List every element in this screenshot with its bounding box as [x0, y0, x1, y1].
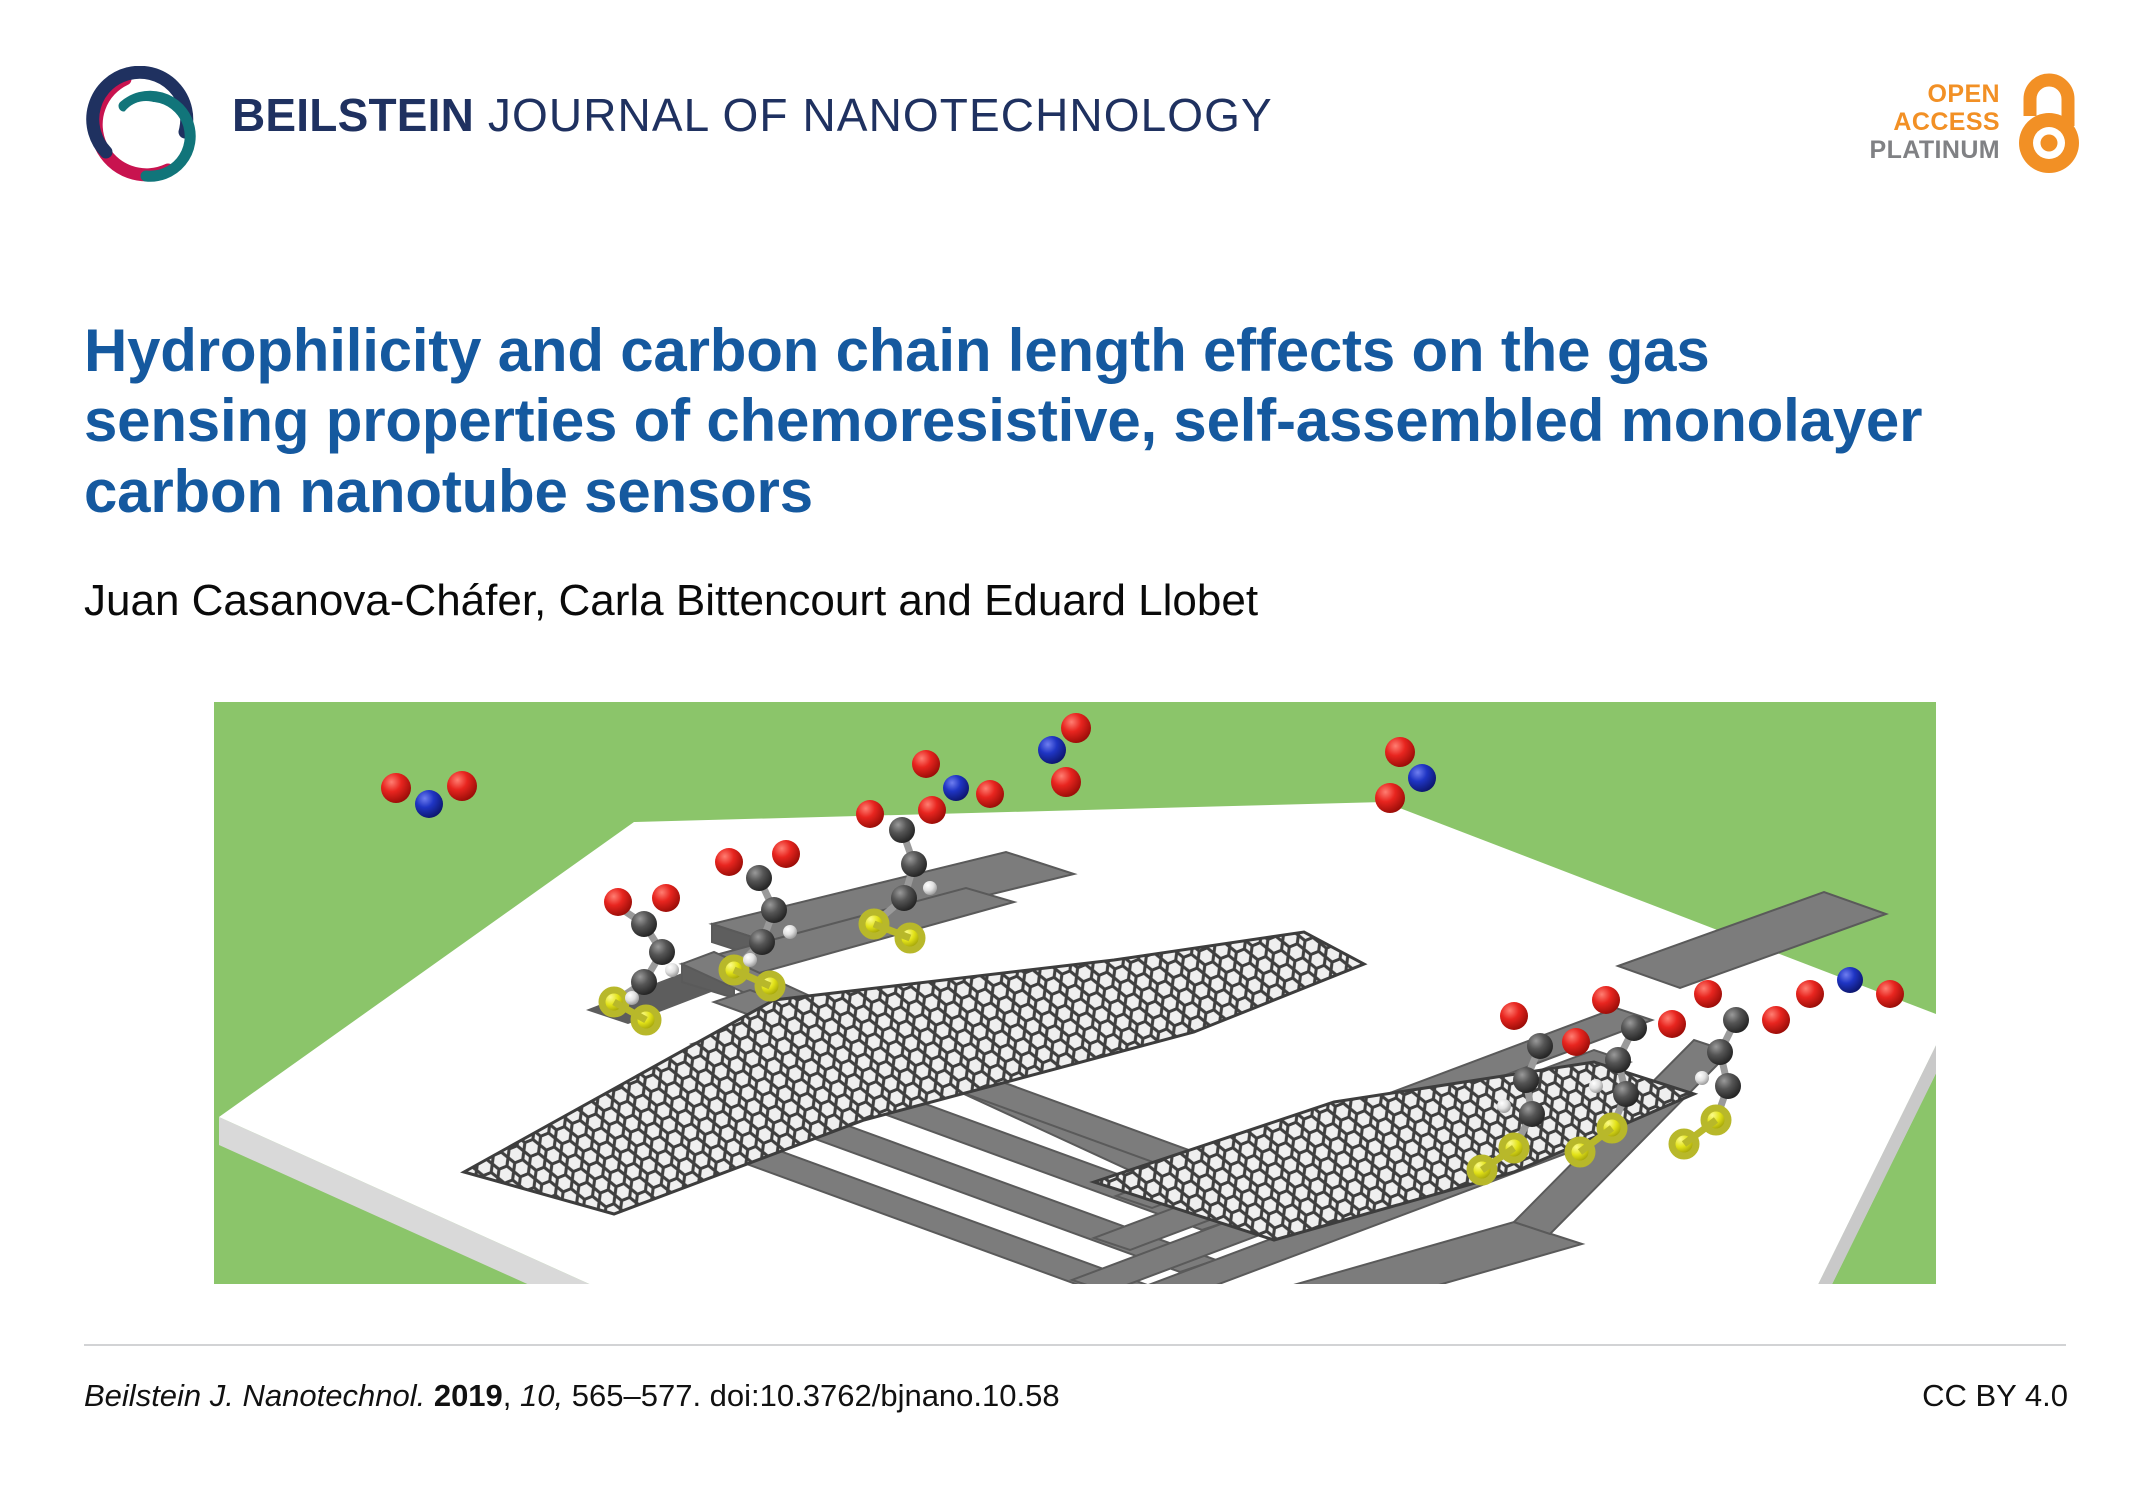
citation-pages-doi: 565–577. doi:10.3762/bjnano.10.58 [572, 1378, 1060, 1413]
open-access-line-platinum: PLATINUM [1870, 136, 2001, 164]
open-padlock-icon [2010, 70, 2088, 174]
citation-volume: 10, [520, 1378, 563, 1413]
footer-divider [84, 1344, 2066, 1346]
license-label: CC BY 4.0 [1922, 1378, 2068, 1414]
open-access-line-open: OPEN [1928, 80, 2000, 108]
open-access-platinum-badge: OPEN ACCESS PLATINUM [1870, 66, 2089, 178]
journal-masthead-title: BEILSTEIN JOURNAL OF NANOTECHNOLOGY [232, 88, 1273, 142]
masthead-subtitle: JOURNAL OF NANOTECHNOLOGY [474, 89, 1273, 141]
beilstein-triple-arc-logo-icon [84, 66, 204, 184]
open-access-line-access: ACCESS [1893, 108, 2000, 136]
citation-line: Beilstein J. Nanotechnol. 2019, 10, 565–… [84, 1378, 1060, 1414]
masthead-brand: BEILSTEIN [232, 89, 474, 141]
citation-year: 2019 [434, 1378, 503, 1413]
article-authors: Juan Casanova-Cháfer, Carla Bittencourt … [84, 576, 1258, 626]
citation-journal: Beilstein J. Nanotechnol. [84, 1378, 425, 1413]
open-access-wordmark: OPEN ACCESS PLATINUM [1870, 80, 2001, 164]
article-title: Hydrophilicity and carbon chain length e… [84, 316, 1944, 527]
masthead: BEILSTEIN JOURNAL OF NANOTECHNOLOGY OPEN… [0, 0, 2150, 190]
sensor-illustration [214, 702, 1936, 1284]
graphical-abstract-image [214, 702, 1936, 1284]
